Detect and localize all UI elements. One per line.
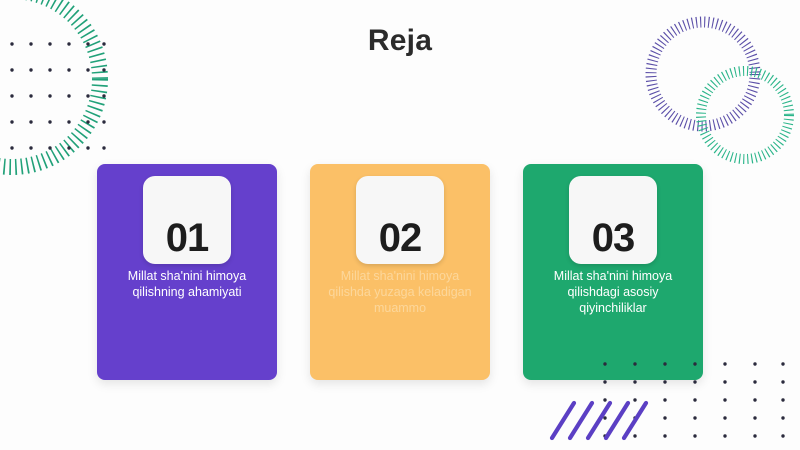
number-badge: 02 [356, 176, 444, 264]
card-description-line: Millat sha'nini himoya [320, 268, 480, 284]
number-badge: 01 [143, 176, 231, 264]
card-number: 02 [379, 218, 422, 264]
card-number: 03 [592, 218, 635, 264]
card-description-line: qilishda yuzaga keladigan [320, 284, 480, 300]
card-description-line: qilishdagi asosiy [533, 284, 693, 300]
card-01[interactable]: 01 Millat sha'nini himoya qilishning aha… [97, 164, 277, 380]
diagonal-slashes-icon [548, 398, 658, 443]
card-description-line: muammo [320, 300, 480, 316]
card-description-line: qiyinchiliklar [533, 300, 693, 316]
cards-row: 01 Millat sha'nini himoya qilishning aha… [97, 164, 703, 380]
card-description-line: qilishning ahamiyati [107, 284, 267, 300]
page-title: Reja [0, 24, 800, 58]
number-badge: 03 [569, 176, 657, 264]
card-description-line: Millat sha'nini himoya [533, 268, 693, 284]
card-description: Millat sha'nini himoya qilishning ahamiy… [107, 268, 267, 300]
card-number: 01 [166, 218, 209, 264]
card-description-line: Millat sha'nini himoya [107, 268, 267, 284]
card-description: Millat sha'nini himoya qilishdagi asosiy… [533, 268, 693, 316]
dot-grid-top-left-icon [8, 40, 108, 160]
card-03[interactable]: 03 Millat sha'nini himoya qilishdagi aso… [523, 164, 703, 380]
card-description: Millat sha'nini himoya qilishda yuzaga k… [320, 268, 480, 316]
slide-canvas: Reja 01 Millat sha'nini himoya qilishnin… [0, 0, 800, 450]
card-02[interactable]: 02 Millat sha'nini himoya qilishda yuzag… [310, 164, 490, 380]
